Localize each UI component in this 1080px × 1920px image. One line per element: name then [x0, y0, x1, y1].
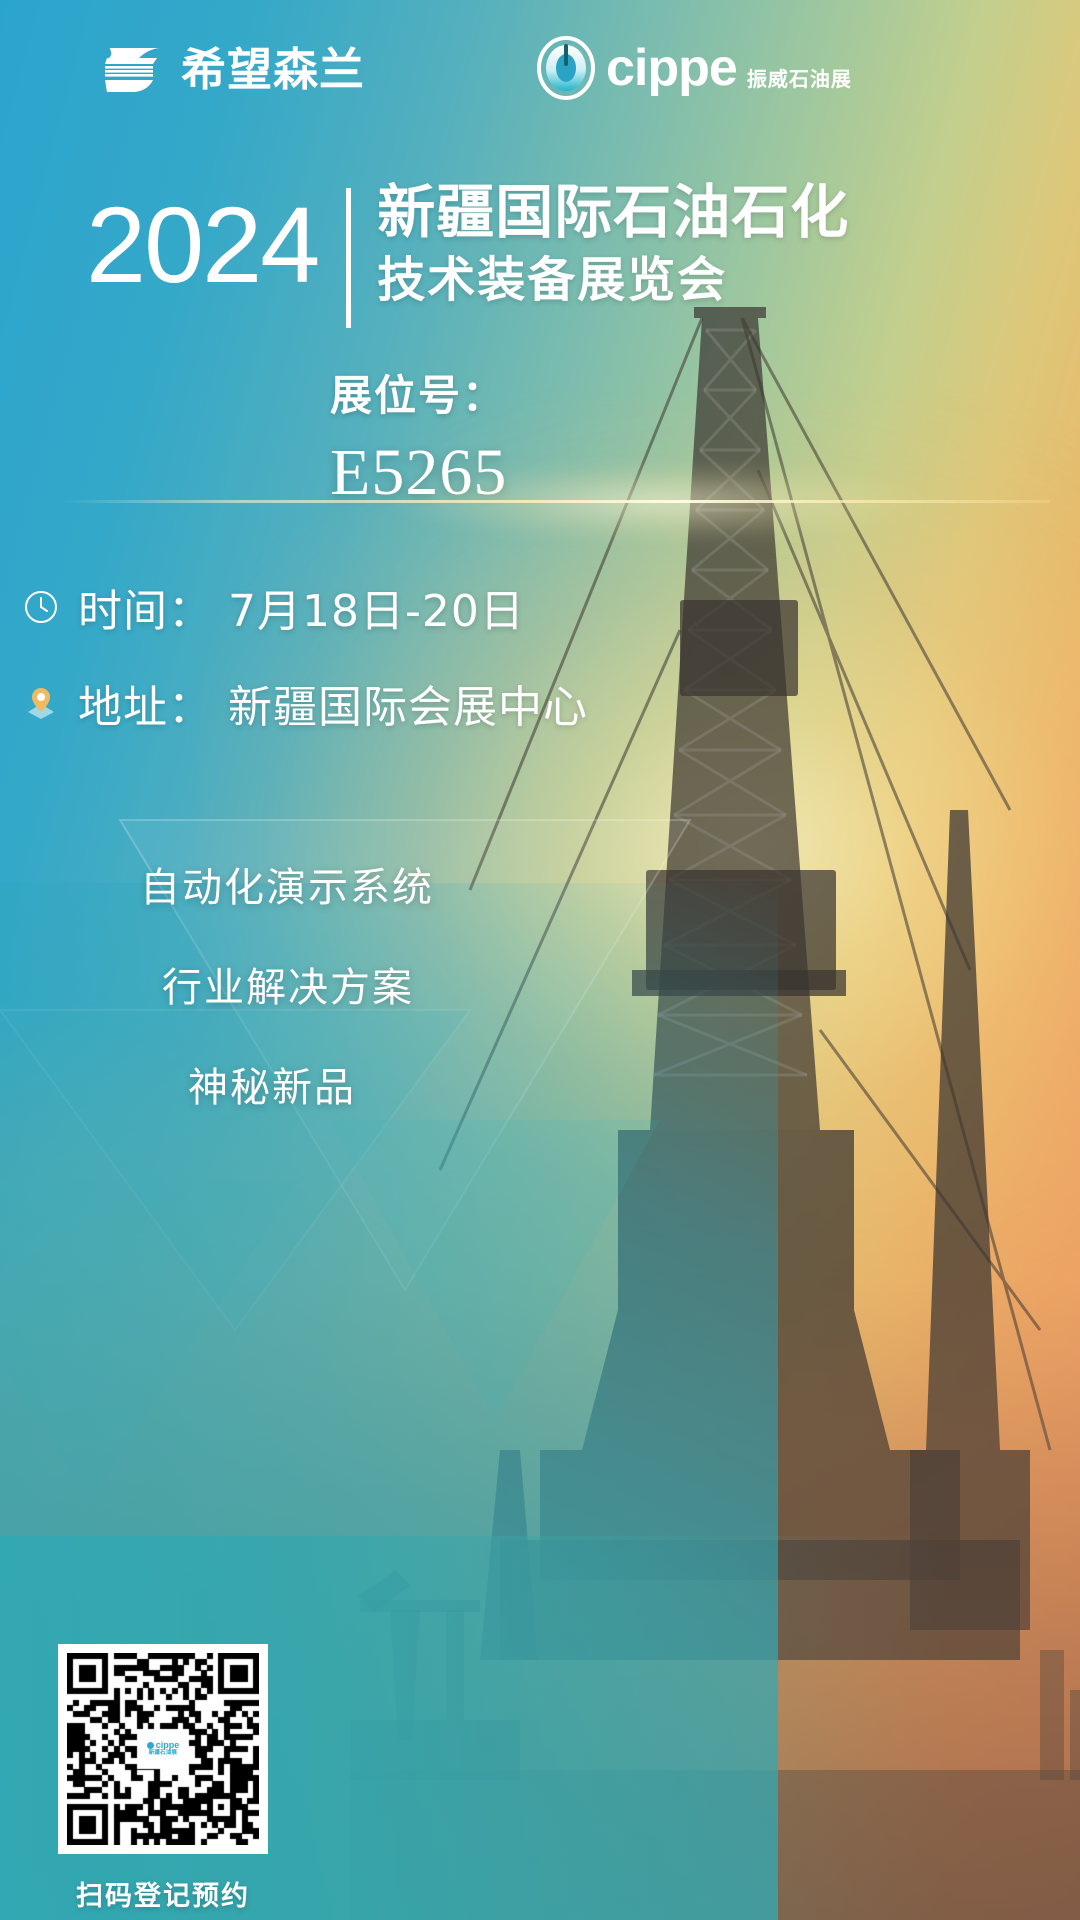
- qr-center-logo-subtext: 新疆石油展: [149, 1751, 178, 1757]
- exhibition-logo-text: cippe: [606, 42, 737, 94]
- poster-title: 2024 新疆国际石油石化 技术装备展览会: [86, 178, 849, 328]
- feature-item-1: 自动化演示系统: [140, 855, 434, 913]
- info-time-text: 时间： 7月18日-20日: [78, 575, 525, 639]
- booth-label: 展位号：: [330, 362, 750, 423]
- feature-list: 自动化演示系统 行业解决方案 神秘新品: [140, 855, 434, 1113]
- info-list: 时间： 7月18日-20日 地址： 新疆国际会展中心: [22, 575, 588, 735]
- qr-caption: 扫码登记预约: [58, 1874, 268, 1913]
- title-line-1: 新疆国际石油石化: [377, 182, 849, 243]
- cippe-ring-icon: [536, 36, 596, 100]
- info-address-text: 地址： 新疆国际会展中心: [78, 671, 588, 735]
- feature-item-3: 神秘新品: [188, 1055, 434, 1113]
- qr-center-logo-row: cippe: [147, 1741, 180, 1750]
- poster-root: 希望森兰 cippe: [0, 0, 1080, 1920]
- qr-center-logo: cippe 新疆石油展: [141, 1732, 185, 1766]
- poster-header: 希望森兰 cippe: [0, 0, 1080, 136]
- cippe-dot-icon: [147, 1742, 154, 1749]
- clock-icon: [22, 588, 60, 626]
- title-divider: [346, 188, 351, 328]
- sl-s-mark-icon: [105, 44, 167, 94]
- title-lines: 新疆国际石油石化 技术装备展览会: [377, 178, 849, 305]
- qr-center-logo-text: cippe: [156, 1741, 180, 1750]
- company-logo-text: 希望森兰: [181, 47, 365, 92]
- title-year: 2024: [86, 178, 318, 297]
- title-line-2: 技术装备展览会: [377, 255, 849, 305]
- exhibition-logo-subtext: 振威石油展: [747, 63, 852, 92]
- feature-item-2: 行业解决方案: [162, 955, 434, 1013]
- exhibition-logo: cippe 振威石油展: [536, 36, 852, 100]
- qr-code[interactable]: cippe 新疆石油展: [58, 1644, 268, 1854]
- info-row-address: 地址： 新疆国际会展中心: [22, 671, 588, 735]
- location-pin-icon: [22, 684, 60, 722]
- info-row-time: 时间： 7月18日-20日: [22, 575, 588, 639]
- section-divider: [60, 500, 1050, 503]
- company-logo: 希望森兰: [105, 44, 365, 94]
- qr-block[interactable]: cippe 新疆石油展 扫码登记预约: [58, 1644, 290, 1913]
